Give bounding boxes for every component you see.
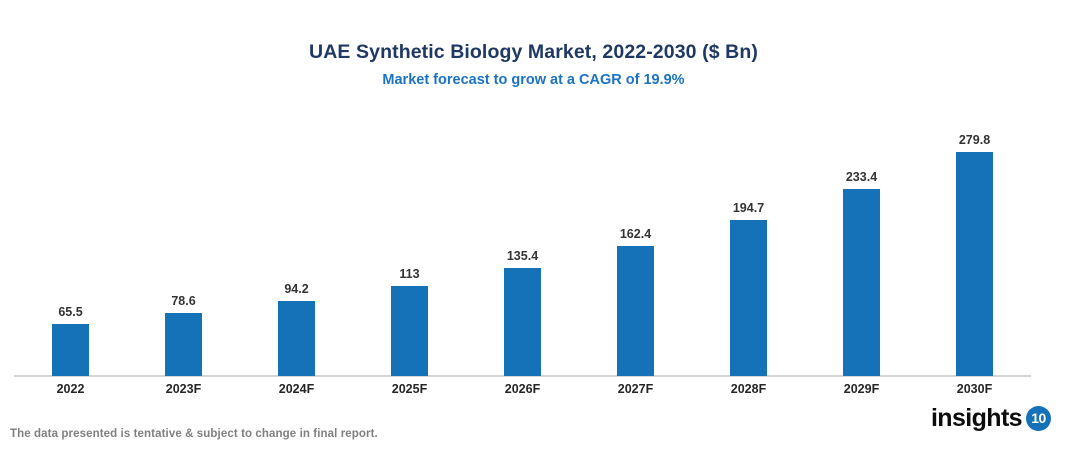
insights10-logo: insights 10	[931, 405, 1051, 431]
bar-group: 194.7	[692, 110, 805, 376]
chart-subtitle: Market forecast to grow at a CAGR of 19.…	[0, 70, 1067, 90]
x-tick-label: 2028F	[692, 380, 805, 400]
bar-group: 113	[353, 110, 466, 376]
x-tick-label: 2026F	[466, 380, 579, 400]
bar-value-label: 78.6	[171, 294, 195, 308]
x-tick-label: 2024F	[240, 380, 353, 400]
bar-series: 65.5 78.6 94.2 113 135.4 162.4 194.7 23	[14, 110, 1031, 376]
bar-rect[interactable]	[956, 152, 993, 376]
bar-value-label: 162.4	[620, 227, 651, 241]
logo-wordmark: insights	[931, 405, 1022, 431]
x-tick-label: 2023F	[127, 380, 240, 400]
bar-group: 65.5	[14, 110, 127, 376]
bar-group: 279.8	[918, 110, 1031, 376]
bar-value-label: 113	[399, 267, 419, 281]
title-block: UAE Synthetic Biology Market, 2022-2030 …	[0, 40, 1067, 90]
bar-rect[interactable]	[52, 324, 89, 376]
disclaimer-text: The data presented is tentative & subjec…	[10, 428, 378, 440]
bar-group: 135.4	[466, 110, 579, 376]
bar-rect[interactable]	[730, 220, 767, 376]
bar-group: 78.6	[127, 110, 240, 376]
bar-value-label: 233.4	[846, 170, 877, 184]
bar-group: 162.4	[579, 110, 692, 376]
bar-group: 233.4	[805, 110, 918, 376]
bar-rect[interactable]	[843, 189, 880, 376]
bar-rect[interactable]	[391, 286, 428, 376]
x-tick-label: 2030F	[918, 380, 1031, 400]
x-tick-label: 2025F	[353, 380, 466, 400]
x-axis-tick-labels: 2022 2023F 2024F 2025F 2026F 2027F 2028F…	[14, 380, 1031, 400]
bar-value-label: 65.5	[58, 305, 82, 319]
bar-rect[interactable]	[278, 301, 315, 376]
bar-value-label: 279.8	[959, 133, 990, 147]
bar-value-label: 194.7	[733, 201, 764, 215]
bar-group: 94.2	[240, 110, 353, 376]
bar-value-label: 94.2	[284, 282, 308, 296]
x-tick-label: 2029F	[805, 380, 918, 400]
logo-badge-icon: 10	[1026, 406, 1051, 431]
bar-rect[interactable]	[504, 268, 541, 376]
bar-rect[interactable]	[617, 246, 654, 376]
bar-rect[interactable]	[165, 313, 202, 376]
x-tick-label: 2027F	[579, 380, 692, 400]
chart-title: UAE Synthetic Biology Market, 2022-2030 …	[0, 40, 1067, 64]
x-tick-label: 2022	[14, 380, 127, 400]
chart-figure: UAE Synthetic Biology Market, 2022-2030 …	[0, 0, 1067, 454]
bar-value-label: 135.4	[507, 249, 538, 263]
